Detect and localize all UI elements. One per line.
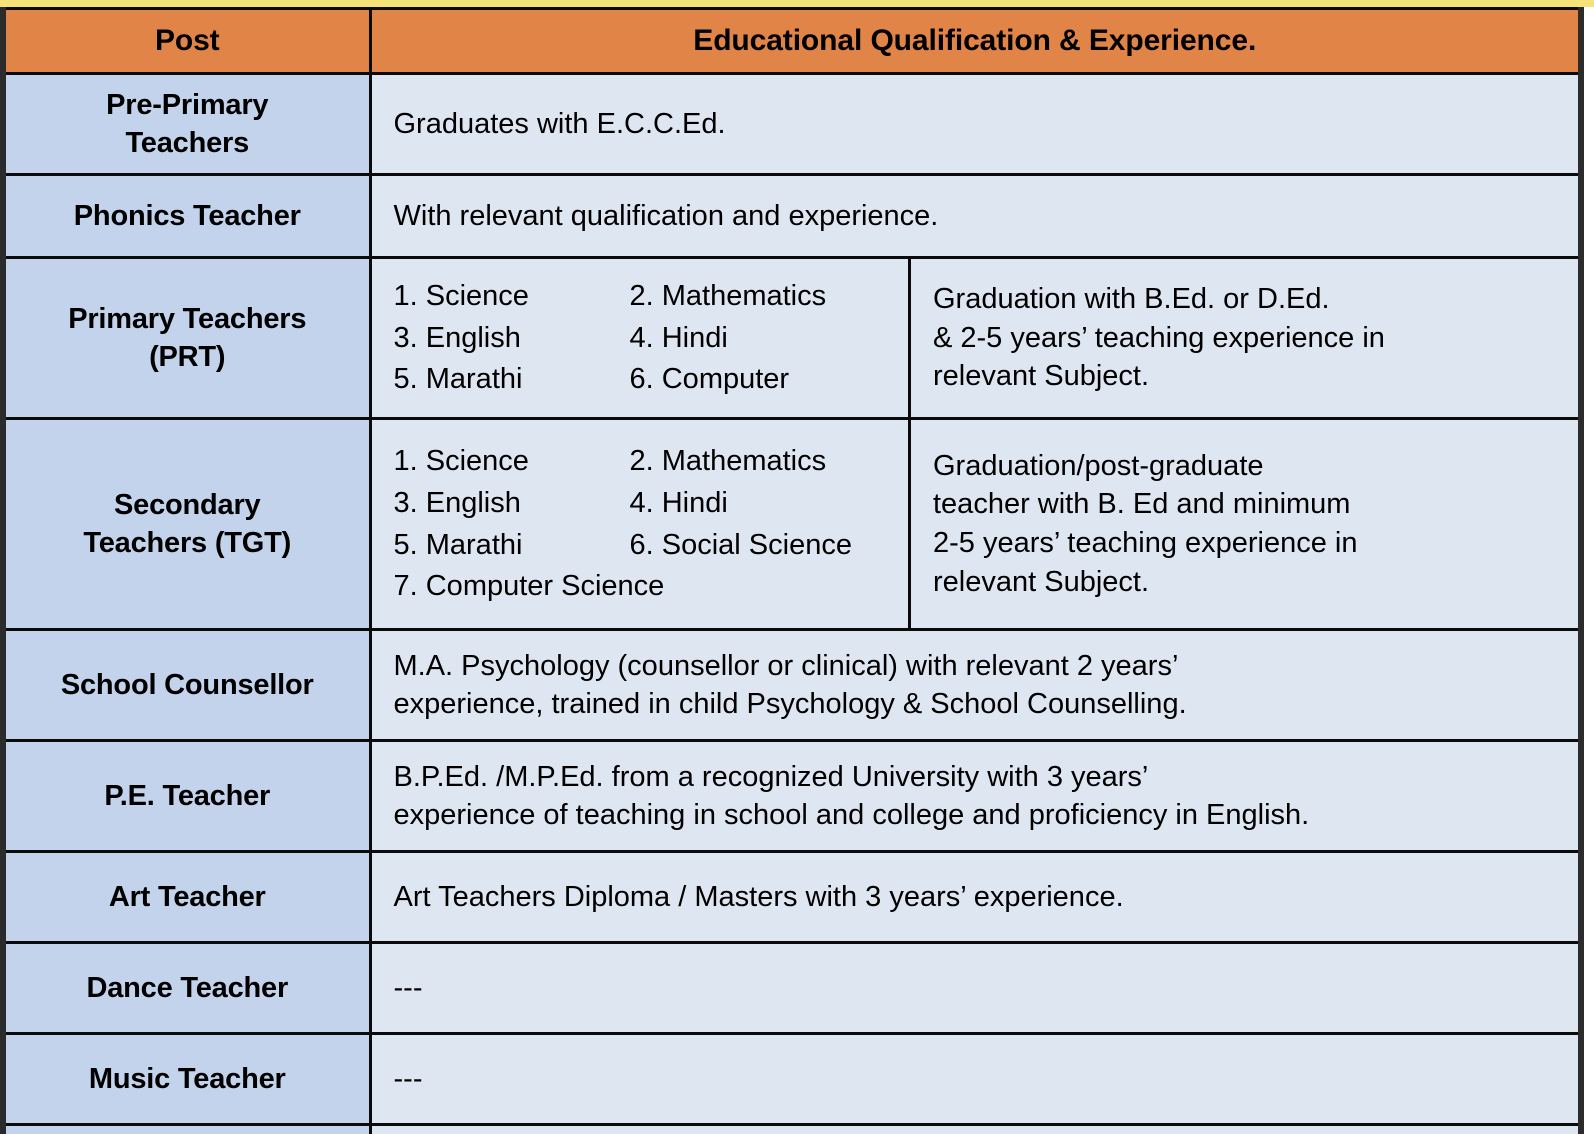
post-label-line1: Art Teacher (12, 878, 363, 916)
qualification-cell: Graduates with E.C.C.Ed. (370, 74, 1581, 175)
top-yellow-strip (0, 0, 1594, 7)
page-root: Post Educational Qualification & Experie… (0, 0, 1594, 1134)
subject-item: 4. Hindi (630, 319, 887, 358)
post-label-line1: Primary Teachers (12, 300, 363, 338)
requirement-line: Graduation with B.Ed. or D.Ed. (933, 280, 1561, 319)
subject-item: 1. Science (394, 277, 630, 316)
split-qualification-table: 1. Science 2. Mathematics 3. English 4. … (372, 259, 1583, 417)
post-label-line1: P.E. Teacher (12, 777, 363, 815)
post-label-line2: Teachers (TGT) (12, 524, 363, 562)
post-cell: Music Teacher (3, 1034, 370, 1125)
post-label-line1: Phonics Teacher (12, 197, 363, 235)
table-row: Account Assistant (Admin) B.Com/M.com wi… (3, 1125, 1581, 1134)
qualification-table-container: Post Educational Qualification & Experie… (0, 7, 1594, 1134)
qualification-cell: --- (370, 1034, 1581, 1125)
table-header: Post Educational Qualification & Experie… (3, 9, 1581, 74)
qualification-text: With relevant qualification and experien… (394, 197, 1557, 235)
qualification-cell: 1. Science 2. Mathematics 3. English 4. … (370, 419, 1581, 630)
qualification-line: B.P.Ed. /M.P.Ed. from a recognized Unive… (394, 758, 1557, 796)
subject-list-cell: 1. Science 2. Mathematics 3. English 4. … (372, 420, 910, 628)
post-cell: P.E. Teacher (3, 741, 370, 852)
subject-list-cell: 1. Science 2. Mathematics 3. English 4. … (372, 259, 910, 417)
post-label-line1: Pre-Primary (12, 86, 363, 124)
qualification-line: experience of teaching in school and col… (394, 796, 1557, 834)
post-cell: School Counsellor (3, 630, 370, 741)
qualification-text: Graduates with E.C.C.Ed. (394, 105, 1557, 143)
post-cell: Account Assistant (Admin) (3, 1125, 370, 1134)
subject-grid: 1. Science 2. Mathematics 3. English 4. … (394, 442, 887, 605)
split-qualification-table: 1. Science 2. Mathematics 3. English 4. … (372, 420, 1583, 628)
table-body: Pre-Primary Teachers Graduates with E.C.… (3, 74, 1581, 1134)
post-label-line1: Secondary (12, 486, 363, 524)
requirement-line: 2-5 years’ teaching experience in (933, 524, 1561, 563)
post-cell: Pre-Primary Teachers (3, 74, 370, 175)
table-row: Pre-Primary Teachers Graduates with E.C.… (3, 74, 1581, 175)
requirement-line: Graduation/post-graduate (933, 447, 1561, 486)
table-row: Primary Teachers (PRT) 1. Science 2. Mat… (3, 258, 1581, 419)
column-header-post: Post (3, 9, 370, 74)
qualification-cell: 1. Science 2. Mathematics 3. English 4. … (370, 258, 1581, 419)
post-label-line2: (PRT) (12, 338, 363, 376)
post-cell: Secondary Teachers (TGT) (3, 419, 370, 630)
qualification-text: Art Teachers Diploma / Masters with 3 ye… (394, 878, 1557, 916)
subject-item: 2. Mathematics (630, 277, 887, 316)
post-cell: Dance Teacher (3, 943, 370, 1034)
qualification-cell: M.A. Psychology (counsellor or clinical)… (370, 630, 1581, 741)
subject-item: 6. Computer (630, 360, 887, 399)
header-row: Post Educational Qualification & Experie… (3, 9, 1581, 74)
requirement-line: relevant Subject. (933, 357, 1561, 396)
post-cell: Primary Teachers (PRT) (3, 258, 370, 419)
qualification-table: Post Educational Qualification & Experie… (0, 7, 1584, 1134)
qualification-line: M.A. Psychology (counsellor or clinical)… (394, 647, 1557, 685)
qualification-cell: --- (370, 943, 1581, 1034)
table-row: P.E. Teacher B.P.Ed. /M.P.Ed. from a rec… (3, 741, 1581, 852)
qualification-cell: B.P.Ed. /M.P.Ed. from a recognized Unive… (370, 741, 1581, 852)
subject-item: 5. Marathi (394, 526, 630, 565)
table-row: Secondary Teachers (TGT) 1. Science 2. M… (3, 419, 1581, 630)
post-label-line1: Dance Teacher (12, 969, 363, 1007)
qualification-cell: Art Teachers Diploma / Masters with 3 ye… (370, 852, 1581, 943)
qualification-line: experience, trained in child Psychology … (394, 685, 1557, 723)
subject-item: 3. English (394, 319, 630, 358)
subject-item: 7. Computer Science (394, 567, 887, 606)
post-label-line1: Music Teacher (12, 1060, 363, 1098)
subject-item: 2. Mathematics (630, 442, 887, 481)
subject-item: 1. Science (394, 442, 630, 481)
subject-grid: 1. Science 2. Mathematics 3. English 4. … (394, 277, 887, 399)
qualification-text: --- (394, 969, 1557, 1007)
requirement-line: & 2-5 years’ teaching experience in (933, 319, 1561, 358)
table-row: Dance Teacher --- (3, 943, 1581, 1034)
subject-item: 5. Marathi (394, 360, 630, 399)
qualification-cell: B.Com/M.com with 2-3 years’ experience i… (370, 1125, 1581, 1134)
post-cell: Phonics Teacher (3, 175, 370, 258)
subject-item: 3. English (394, 484, 630, 523)
post-label-line1: School Counsellor (12, 666, 363, 704)
requirement-cell: Graduation/post-graduate teacher with B.… (910, 420, 1583, 628)
post-cell: Art Teacher (3, 852, 370, 943)
qualification-text: --- (394, 1060, 1557, 1098)
requirement-line: relevant Subject. (933, 563, 1561, 602)
table-row: Phonics Teacher With relevant qualificat… (3, 175, 1581, 258)
requirement-cell: Graduation with B.Ed. or D.Ed. & 2-5 yea… (910, 259, 1583, 417)
requirement-line: teacher with B. Ed and minimum (933, 485, 1561, 524)
subject-item: 6. Social Science (630, 526, 887, 565)
table-row: School Counsellor M.A. Psychology (couns… (3, 630, 1581, 741)
table-row: Music Teacher --- (3, 1034, 1581, 1125)
post-label-line2: Teachers (12, 124, 363, 162)
qualification-cell: With relevant qualification and experien… (370, 175, 1581, 258)
subject-item: 4. Hindi (630, 484, 887, 523)
column-header-qualification: Educational Qualification & Experience. (370, 9, 1581, 74)
table-row: Art Teacher Art Teachers Diploma / Maste… (3, 852, 1581, 943)
